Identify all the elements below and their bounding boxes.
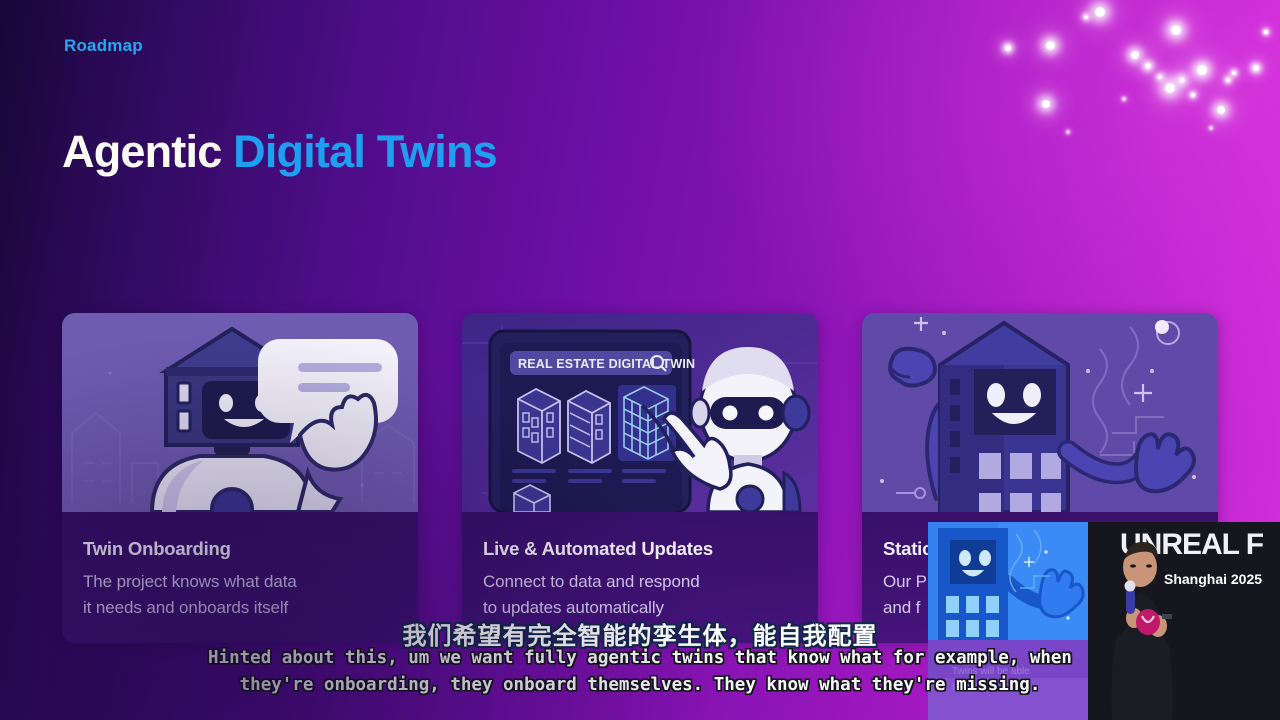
subtitle-english-line-1: Hinted about this, um we want fully agen…	[0, 645, 1280, 672]
sparkle-icon	[1131, 51, 1139, 59]
sparkle-icon	[1145, 63, 1151, 69]
sparkle-icon	[1005, 45, 1011, 51]
sparkle-icon	[1067, 131, 1069, 133]
sparkle-icon	[1165, 83, 1175, 93]
sparkle-icon	[1191, 93, 1195, 97]
sparkle-icon	[1226, 78, 1230, 82]
card-body-line-1: Connect to data and respond	[483, 572, 700, 591]
feature-card-twin-onboarding[interactable]: Twin Onboarding The project knows what d…	[62, 313, 418, 643]
screen-search-label: REAL ESTATE DIGITAL TWIN	[518, 357, 695, 371]
sparkle-icon	[1253, 65, 1258, 70]
card-title: Twin Onboarding	[83, 538, 397, 560]
illustration-robot-with-house-head	[62, 313, 418, 512]
card-body: The project knows what data it needs and…	[83, 569, 397, 621]
sparkle-icon	[1095, 7, 1105, 17]
sparkle-icon	[1042, 100, 1051, 109]
page-title-part-1: Agentic	[62, 126, 233, 177]
sparkle-particles	[980, 0, 1280, 190]
sparkle-icon	[1171, 25, 1181, 35]
subtitle-english: Hinted about this, um we want fully agen…	[0, 645, 1280, 698]
page-title: Agentic Digital Twins	[62, 126, 497, 178]
sparkle-icon	[1197, 65, 1206, 74]
sparkle-icon	[1217, 106, 1225, 114]
slide-kicker: Roadmap	[64, 36, 143, 56]
sparkle-icon	[1264, 30, 1268, 34]
building-character-body	[940, 323, 1068, 512]
sparkle-icon	[1210, 127, 1212, 129]
card-body-line-2: it needs and onboards itself	[83, 598, 288, 617]
sparkle-icon	[1158, 75, 1163, 80]
sparkle-icon	[1046, 41, 1055, 50]
sparkle-icon	[1232, 71, 1236, 75]
feature-card-live-automated-updates[interactable]: REAL ESTATE DIGITAL TWIN	[462, 313, 818, 643]
illustration-robot-pointing-at-tablet: REAL ESTATE DIGITAL TWIN	[462, 313, 818, 512]
card-body-line-1: Our P	[883, 572, 927, 591]
page-title-part-2: Digital Twins	[233, 126, 497, 177]
presentation-slide: Roadmap Agentic Digital Twins	[0, 0, 1280, 720]
card-body: Connect to data and respond to updates a…	[483, 569, 797, 621]
sparkle-icon	[1123, 98, 1126, 101]
sparkle-icon	[1084, 15, 1088, 19]
sparkle-icon	[1179, 77, 1186, 84]
card-title: Live & Automated Updates	[483, 538, 797, 560]
illustration-smiling-building-character	[862, 313, 1218, 512]
card-body-line-2: and f	[883, 598, 920, 617]
card-body-line-2: to updates automatically	[483, 598, 664, 617]
subtitle-english-line-2: they're onboarding, they onboard themsel…	[0, 672, 1280, 699]
stage-banner-subtitle: Shanghai 2025	[1164, 571, 1262, 587]
card-body-line-1: The project knows what data	[83, 572, 297, 591]
